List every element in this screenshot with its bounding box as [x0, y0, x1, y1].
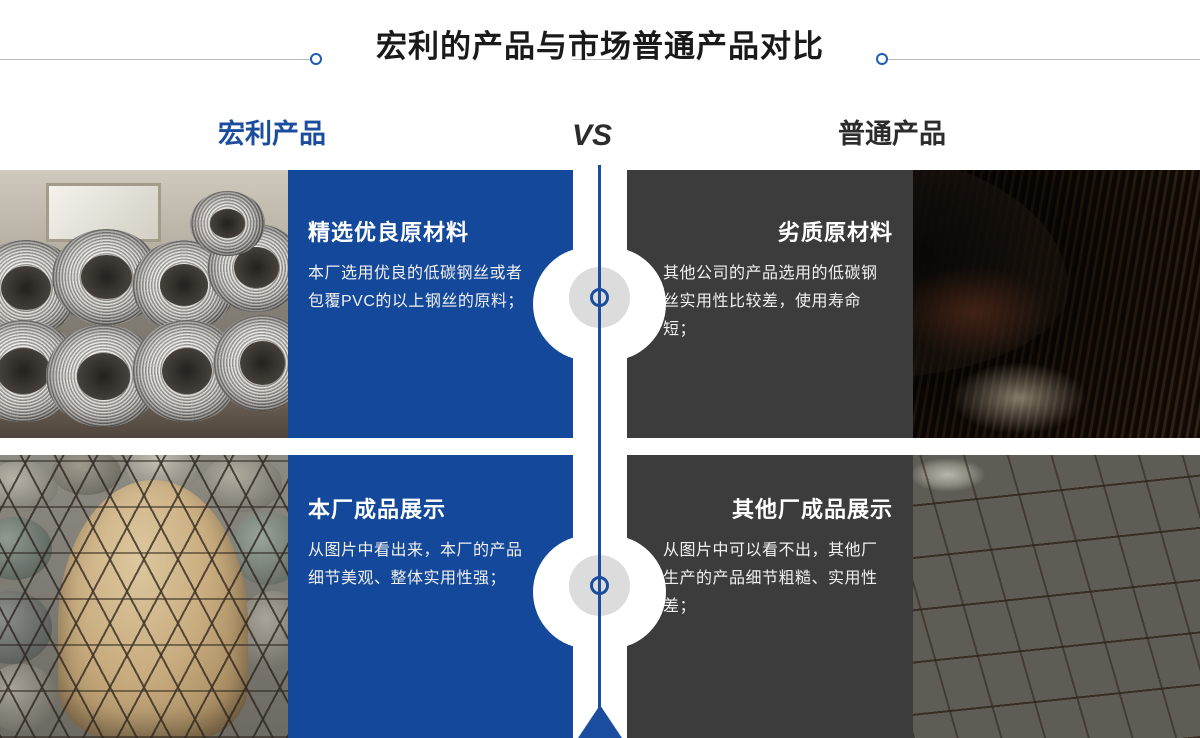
- card-body: 从图片中看出来，本厂的产品细节美观、整体实用性强；: [308, 537, 538, 593]
- card-title: 本厂成品展示: [308, 497, 538, 523]
- card-ordinary-materials: 劣质原材料 其他公司的产品选用的低碳钢丝实用性比较差，使用寿命短；: [627, 170, 913, 438]
- card-ours-materials: 精选优良原材料 本厂选用优良的低碳钢丝或者包覆PVC的以上钢丝的原料；: [288, 170, 573, 438]
- page-header: 宏利的产品与市场普通产品对比: [0, 0, 1200, 100]
- header-dot-left-icon: [310, 53, 322, 65]
- card-body: 本厂选用优良的低碳钢丝或者包覆PVC的以上钢丝的原料；: [308, 260, 538, 316]
- column-label-vs: VS: [572, 118, 612, 154]
- page-title: 宏利的产品与市场普通产品对比: [0, 30, 1200, 64]
- photo-ours-finished: [0, 455, 288, 738]
- center-vertical-line: [598, 165, 601, 715]
- card-body: 其他公司的产品选用的低碳钢丝实用性比较差，使用寿命短；: [663, 260, 893, 344]
- header-dot-right-icon: [876, 53, 888, 65]
- card-title: 劣质原材料: [663, 220, 893, 246]
- card-title: 精选优良原材料: [308, 220, 538, 246]
- down-arrow-icon: [578, 705, 622, 738]
- card-body: 从图片中可以看不出，其他厂生产的产品细节粗糙、实用性差；: [663, 537, 893, 621]
- column-label-ordinary: 普通产品: [838, 118, 946, 150]
- photo-ordinary-materials: [913, 170, 1200, 438]
- comparison-infographic: 宏利的产品与市场普通产品对比 宏利产品 VS 普通产品: [0, 0, 1200, 738]
- column-label-ours: 宏利产品: [218, 118, 326, 150]
- card-ordinary-finished: 其他厂成品展示 从图片中可以看不出，其他厂生产的产品细节粗糙、实用性差；: [627, 455, 913, 738]
- photo-ordinary-finished: [913, 455, 1200, 738]
- photo-ours-materials: [0, 170, 288, 438]
- card-ours-finished: 本厂成品展示 从图片中看出来，本厂的产品细节美观、整体实用性强；: [288, 455, 573, 738]
- card-title: 其他厂成品展示: [663, 497, 893, 523]
